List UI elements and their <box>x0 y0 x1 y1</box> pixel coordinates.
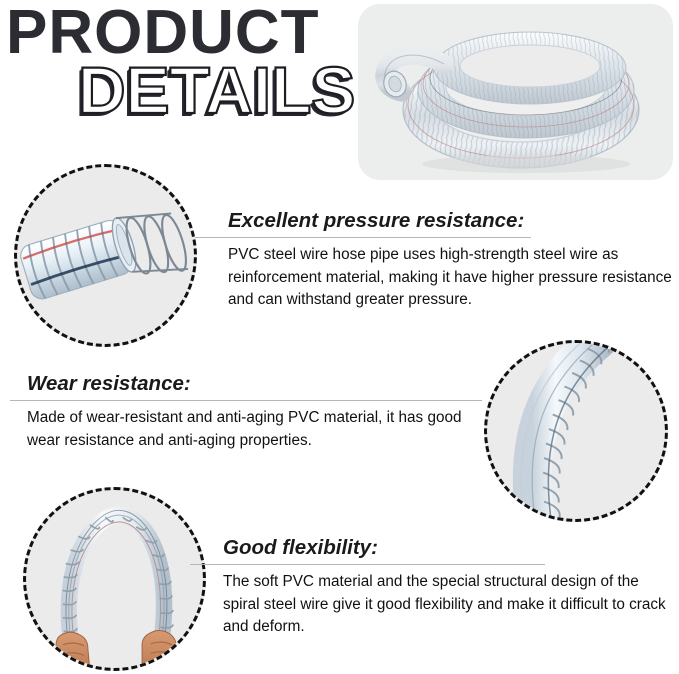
coiled-hose-illustration <box>358 4 673 180</box>
callout-image-pressure <box>14 164 197 347</box>
feature-block-wear: Wear resistance: Made of wear-resistant … <box>10 371 490 452</box>
left-hand <box>56 632 90 668</box>
callout-image-flexibility <box>23 487 206 671</box>
feature-divider-flexibility <box>190 564 545 565</box>
hose-end-spiral-wire-illustration <box>17 167 194 344</box>
page-title: PRODUCT DETAILS <box>0 0 360 140</box>
feature-divider-pressure <box>195 237 531 238</box>
hands-bending-hose-illustration <box>26 490 203 668</box>
hero-product-image <box>358 4 673 180</box>
feature-divider-wear <box>10 400 482 401</box>
feature-heading-flexibility: Good flexibility: <box>223 535 675 561</box>
feature-body-flexibility: The soft PVC material and the special st… <box>223 571 671 639</box>
curved-hose-closeup-illustration <box>487 343 665 519</box>
callout-image-wear <box>484 340 668 522</box>
feature-heading-wear: Wear resistance: <box>27 371 490 397</box>
page-title-secondary: DETAILS <box>78 57 355 123</box>
feature-block-flexibility: Good flexibility: The soft PVC material … <box>190 535 675 639</box>
feature-body-wear: Made of wear-resistant and anti-aging PV… <box>27 407 487 452</box>
feature-body-pressure: PVC steel wire hose pipe uses high-stren… <box>228 244 676 312</box>
feature-heading-pressure: Excellent pressure resistance: <box>228 208 675 234</box>
right-hand <box>142 630 176 668</box>
feature-block-pressure: Excellent pressure resistance: PVC steel… <box>195 208 675 312</box>
